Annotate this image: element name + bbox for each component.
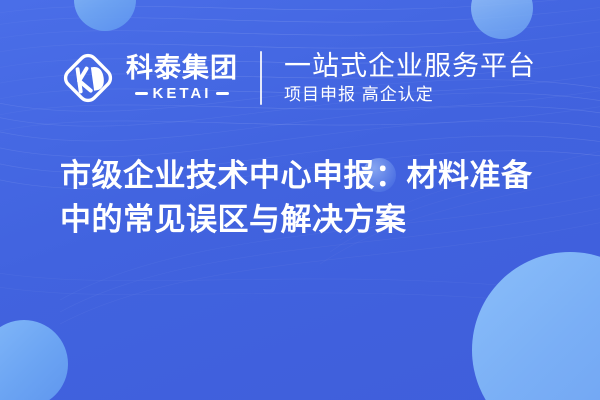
wordmark-rule-left-icon (135, 92, 148, 95)
circle-bottom-right-icon (472, 252, 600, 400)
page-title: 市级企业技术中心申报：材料准备 中的常见误区与解决方案 (60, 154, 560, 242)
ketai-monogram-icon (60, 50, 116, 106)
promo-banner: 科泰集团 KETAI 一站式企业服务平台 项目申报 高企认定 市级企业技术中心申… (0, 0, 600, 400)
tagline-block: 一站式企业服务平台 项目申报 高企认定 (284, 51, 536, 105)
tagline-main: 一站式企业服务平台 (284, 51, 536, 81)
headline-line-1: 市级企业技术中心申报：材料准备 (60, 154, 560, 198)
circle-top-left-icon (74, 0, 136, 31)
brand-name-en-row: KETAI (135, 85, 230, 102)
brand-name-cn: 科泰集团 (126, 54, 238, 82)
circle-top-right-icon (471, 0, 533, 39)
brand-logo[interactable]: 科泰集团 KETAI (60, 50, 238, 106)
circle-bottom-left-icon (0, 320, 68, 400)
brand-wordmark: 科泰集团 KETAI (126, 54, 238, 101)
tagline-sub: 项目申报 高企认定 (284, 84, 536, 105)
banner-header: 科泰集团 KETAI 一站式企业服务平台 项目申报 高企认定 (0, 44, 600, 112)
wordmark-rule-right-icon (216, 92, 229, 95)
brand-name-en: KETAI (153, 85, 212, 102)
header-divider (260, 51, 262, 105)
headline-line-2: 中的常见误区与解决方案 (60, 198, 560, 242)
